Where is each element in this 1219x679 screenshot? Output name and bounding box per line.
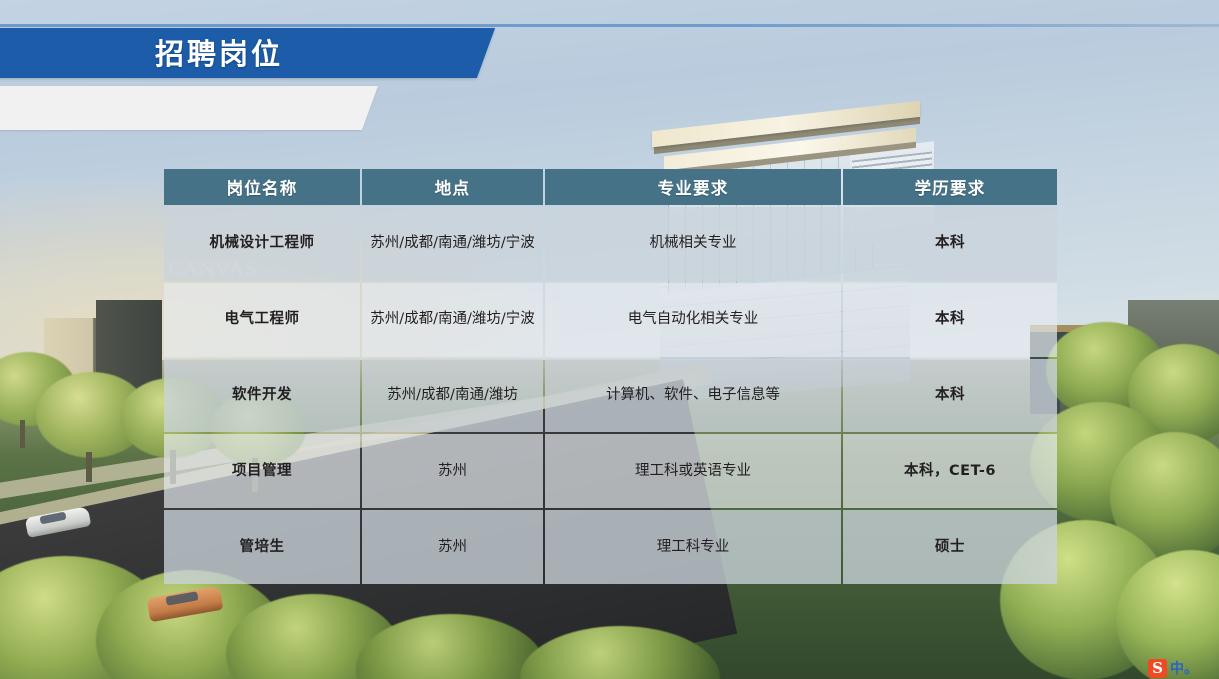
jobs-table-container: 岗位名称 地点 专业要求 学历要求 机械设计工程师 苏州/成都/南通/潍坊/宁波… — [162, 167, 1057, 586]
sogou-logo-icon: S — [1148, 659, 1167, 678]
cell-location: 苏州/成都/南通/潍坊/宁波 — [362, 283, 543, 357]
cell-position: 项目管理 — [164, 434, 360, 508]
cell-position: 管培生 — [164, 510, 360, 584]
sogou-watermark: S 中。 — [1148, 657, 1219, 679]
table-header-row: 岗位名称 地点 专业要求 学历要求 — [164, 169, 1057, 205]
cell-location: 苏州/成都/南通/潍坊/宁波 — [362, 207, 543, 281]
cell-degree: 本科 — [843, 283, 1057, 357]
cell-degree: 本科，CET-6 — [843, 434, 1057, 508]
cell-degree: 硕士 — [843, 510, 1057, 584]
cell-degree: 本科 — [843, 207, 1057, 281]
header-accent-line — [0, 24, 1219, 27]
table-row: 机械设计工程师 苏州/成都/南通/潍坊/宁波 机械相关专业 本科 — [164, 207, 1057, 281]
tree-trunk — [20, 420, 25, 448]
column-header-major: 专业要求 — [545, 169, 841, 205]
cell-position: 软件开发 — [164, 359, 360, 433]
column-header-position: 岗位名称 — [164, 169, 360, 205]
slide-canvas: CANVAS 招聘岗位 岗位名称 地点 专业要求 学历要求 机械设计工程师 苏州… — [0, 0, 1219, 679]
table-row: 电气工程师 苏州/成都/南通/潍坊/宁波 电气自动化相关专业 本科 — [164, 283, 1057, 357]
table-row: 项目管理 苏州 理工科或英语专业 本科，CET-6 — [164, 434, 1057, 508]
table-row: 管培生 苏州 理工科专业 硕士 — [164, 510, 1057, 584]
cell-position: 电气工程师 — [164, 283, 360, 357]
cell-major: 电气自动化相关专业 — [545, 283, 841, 357]
cell-degree: 本科 — [843, 359, 1057, 433]
cell-major: 理工科或英语专业 — [545, 434, 841, 508]
cell-location: 苏州 — [362, 434, 543, 508]
cell-major: 理工科专业 — [545, 510, 841, 584]
jobs-table: 岗位名称 地点 专业要求 学历要求 机械设计工程师 苏州/成都/南通/潍坊/宁波… — [162, 167, 1059, 586]
title-banner-underlay — [0, 86, 378, 130]
cell-major: 机械相关专业 — [545, 207, 841, 281]
cell-position: 机械设计工程师 — [164, 207, 360, 281]
tree-trunk — [86, 452, 92, 482]
page-title: 招聘岗位 — [155, 34, 485, 74]
cell-location: 苏州/成都/南通/潍坊 — [362, 359, 543, 433]
column-header-location: 地点 — [362, 169, 543, 205]
cell-major: 计算机、软件、电子信息等 — [545, 359, 841, 433]
table-row: 软件开发 苏州/成都/南通/潍坊 计算机、软件、电子信息等 本科 — [164, 359, 1057, 433]
column-header-degree: 学历要求 — [843, 169, 1057, 205]
sogou-watermark-label: 中。 — [1170, 658, 1198, 678]
cell-location: 苏州 — [362, 510, 543, 584]
